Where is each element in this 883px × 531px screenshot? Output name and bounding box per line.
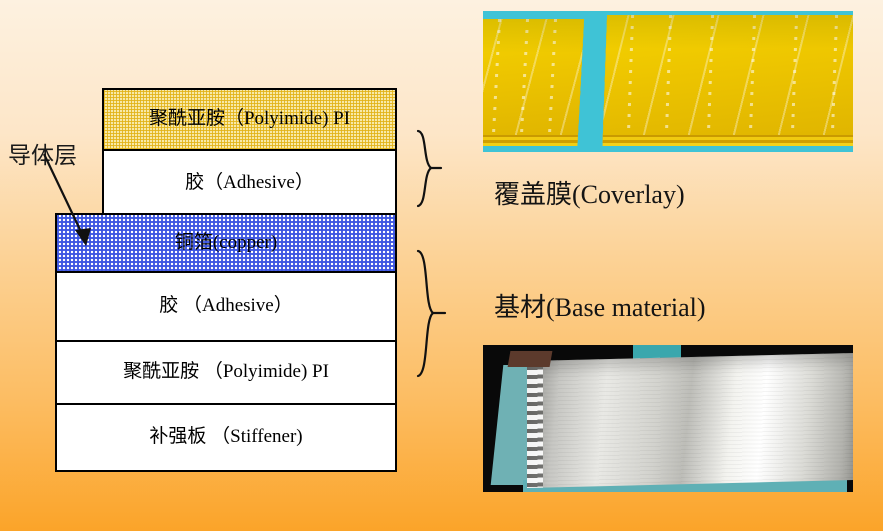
slide-canvas: 聚酰亚胺（Polyimide) PI 胶（Adhesive） 铜箔(copper… [0,0,883,531]
layer-polyimide-top: 聚酰亚胺（Polyimide) PI [104,90,395,151]
photo-base-material [483,345,853,492]
caption-coverlay: 覆盖膜(Coverlay) [494,174,685,211]
layer-copper: 铜箔(copper) [57,215,395,273]
layer-stiffener-label: 补强板 （Stiffener) [145,426,306,448]
base-material-foil [527,353,853,488]
layer-adhesive-bottom: 胶 （Adhesive） [57,273,395,342]
layer-polyimide-bottom-label: 聚酰亚胺 （Polyimide) PI [119,361,333,383]
layer-adhesive-bottom-label: 胶 （Adhesive） [155,295,297,317]
photo-coverlay [483,11,853,152]
layer-adhesive-top: 胶（Adhesive） [104,151,395,215]
brace-coverlay-icon [414,128,444,210]
coverlay-sheet-stack-right [603,15,853,135]
brace-base-icon [414,248,448,380]
conductor-layer-label: 导体层 [8,136,77,170]
layer-polyimide-bottom: 聚酰亚胺 （Polyimide) PI [57,342,395,405]
layer-polyimide-top-label: 聚酰亚胺（Polyimide) PI [145,108,354,130]
layer-stiffener: 补强板 （Stiffener) [57,405,395,470]
layer-adhesive-top-label: 胶（Adhesive） [181,172,318,194]
coverlay-sheet-stack-left [483,19,584,135]
layer-stack-base: 铜箔(copper) 胶 （Adhesive） 聚酰亚胺 （Polyimide)… [55,213,397,472]
layer-stack-coverlay: 聚酰亚胺（Polyimide) PI 胶（Adhesive） [102,88,397,215]
base-material-striations [527,353,853,488]
base-material-perforated-edge [527,361,543,488]
caption-base-material: 基材(Base material) [494,287,706,324]
base-photo-corner-shadow [508,351,553,367]
layer-copper-label: 铜箔(copper) [171,232,281,254]
